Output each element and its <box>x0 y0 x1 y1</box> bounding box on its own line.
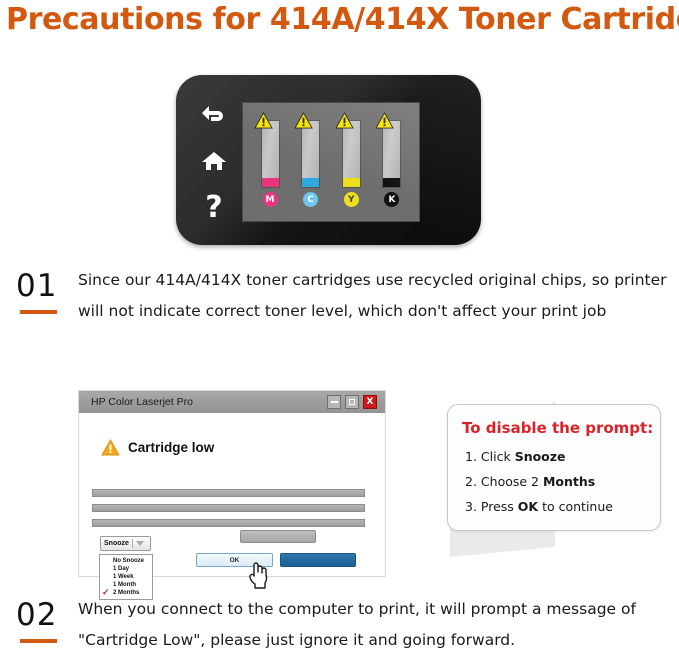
warning-triangle-icon <box>101 439 120 456</box>
dialog-heading-text: Cartridge low <box>128 440 214 455</box>
snooze-option-1-week[interactable]: 1 Week <box>100 573 152 581</box>
ok-button-label: OK <box>230 557 240 564</box>
dialog-title: HP Color Laserjet Pro <box>91 396 193 408</box>
snooze-select-value: Snooze <box>104 540 129 547</box>
toner-code-badge: C <box>303 192 318 207</box>
step-number: 01 <box>16 268 57 304</box>
callout-step-bold: Months <box>543 474 595 489</box>
toner-fill <box>383 178 400 187</box>
printer-control-panel: ? M <box>176 75 481 245</box>
step-accent-rule <box>20 639 57 643</box>
toner-bar <box>382 120 401 188</box>
callout-step-1: 1. Click Snooze <box>465 449 566 464</box>
step-number: 02 <box>16 597 57 633</box>
snooze-option-label: No Snooze <box>113 558 144 564</box>
secondary-button[interactable] <box>240 530 316 543</box>
step-text: Since our 414A/414X toner cartridges use… <box>78 265 678 327</box>
snooze-option-no-snooze[interactable]: No Snooze <box>100 557 152 565</box>
toner-bar <box>301 120 320 188</box>
snooze-option-label: 1 Week <box>113 574 134 580</box>
callout-step-bold: OK <box>518 499 538 514</box>
panel-screen: M C <box>242 102 420 222</box>
placeholder-text-bar <box>92 519 365 527</box>
callout-box: To disable the prompt: 1. Click Snooze 2… <box>447 404 661 531</box>
panel-key-group: ? <box>190 91 238 231</box>
printer-dialog-window: HP Color Laserjet Pro X Cartridge low <box>78 390 386 577</box>
hand-cursor-icon <box>246 559 272 589</box>
snooze-option-1-day[interactable]: 1 Day <box>100 565 152 573</box>
callout-step-pre: Press <box>481 499 518 514</box>
placeholder-text-bar <box>92 504 365 512</box>
callout-step-pre: Click <box>481 449 515 464</box>
callout-step-2: 2. Choose 2 Months <box>465 474 595 489</box>
callout-step-pre: Choose 2 <box>481 474 543 489</box>
close-button[interactable]: X <box>363 395 377 409</box>
callout-step-3: 3. Press OK to continue <box>465 499 613 514</box>
snooze-select[interactable]: Snooze <box>100 536 151 551</box>
toner-bar <box>261 120 280 188</box>
toner-fill <box>302 178 319 187</box>
toner-bar <box>342 120 361 188</box>
toner-gauge-row: M C <box>255 111 407 215</box>
toner-code-badge: K <box>384 192 399 207</box>
toner-fill <box>343 178 360 187</box>
callout-step-number: 2. <box>465 474 477 489</box>
toner-code-badge: Y <box>344 192 359 207</box>
primary-blue-button[interactable] <box>280 553 356 567</box>
warning-triangle-icon <box>254 112 273 129</box>
toner-gauge-black: K <box>377 111 407 215</box>
callout-step-number: 1. <box>465 449 477 464</box>
warning-triangle-icon <box>375 112 394 129</box>
help-glyph: ? <box>205 193 222 223</box>
callout-step-bold: Snooze <box>515 449 566 464</box>
back-arrow-icon[interactable] <box>200 100 228 128</box>
help-icon[interactable]: ? <box>200 194 228 222</box>
dialog-body: Cartridge low Snooze No Snooze 1 Day 1 W… <box>79 413 385 576</box>
toner-gauge-magenta: M <box>255 111 285 215</box>
page-title: Precautions for 414A/414X Toner Cartridg… <box>6 2 678 37</box>
dialog-titlebar[interactable]: HP Color Laserjet Pro X <box>79 391 385 413</box>
toner-gauge-yellow: Y <box>336 111 366 215</box>
callout-step-number: 3. <box>465 499 477 514</box>
window-button-group: X <box>327 395 377 409</box>
toner-gauge-cyan: C <box>296 111 326 215</box>
callout-step-post: to continue <box>538 499 613 514</box>
snooze-option-label: 1 Month <box>113 582 136 588</box>
toner-code-badge: M <box>263 192 278 207</box>
placeholder-text-bar <box>92 489 365 497</box>
snooze-select-separator <box>132 539 133 548</box>
snooze-option-label: 1 Day <box>113 566 129 572</box>
callout-heading: To disable the prompt: <box>462 419 653 437</box>
home-icon[interactable] <box>200 147 228 175</box>
warning-triangle-icon <box>294 112 313 129</box>
maximize-button[interactable] <box>345 395 359 409</box>
step-accent-rule <box>20 310 57 314</box>
warning-triangle-icon <box>335 112 354 129</box>
step-text: When you connect to the computer to prin… <box>78 594 678 656</box>
chevron-down-icon <box>136 541 144 546</box>
dialog-heading-row: Cartridge low <box>101 439 214 456</box>
minimize-button[interactable] <box>327 395 341 409</box>
figure-dialog-callout: HP Color Laserjet Pro X Cartridge low <box>0 382 679 592</box>
toner-fill <box>262 178 279 187</box>
